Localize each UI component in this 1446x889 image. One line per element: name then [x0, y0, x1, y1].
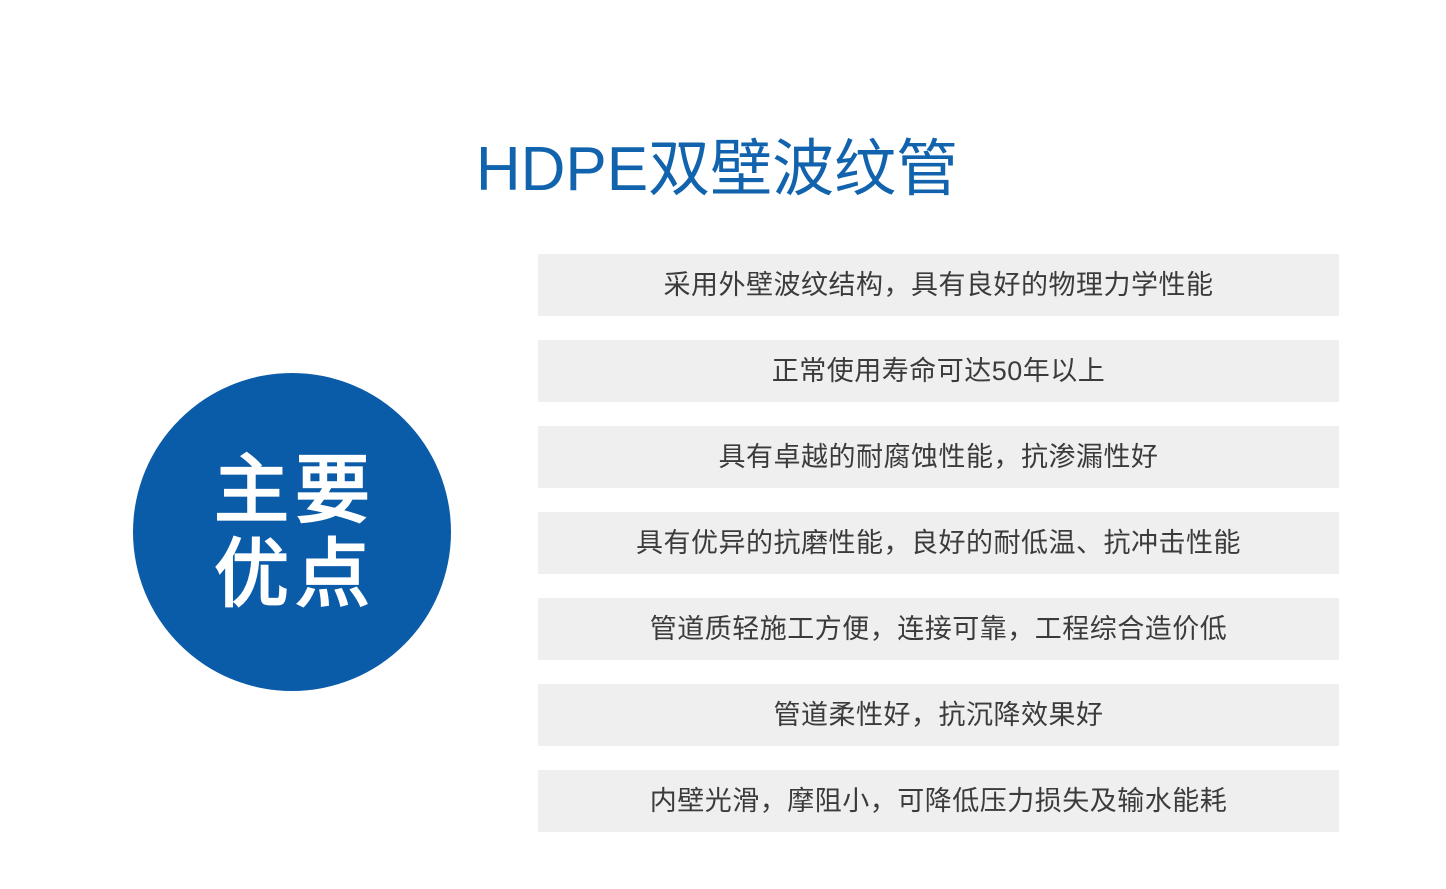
list-item-label: 具有卓越的耐腐蚀性能，抗渗漏性好 [719, 440, 1159, 474]
badge-line-1: 主要 [208, 448, 376, 532]
list-item-label: 具有优异的抗磨性能，良好的耐低温、抗冲击性能 [636, 526, 1241, 560]
list-item-label: 采用外壁波纹结构，具有良好的物理力学性能 [664, 268, 1214, 302]
feature-list: 采用外壁波纹结构，具有良好的物理力学性能 正常使用寿命可达50年以上 具有卓越的… [538, 254, 1339, 832]
list-item-label: 内壁光滑，摩阻小，可降低压力损失及输水能耗 [650, 784, 1228, 818]
list-item-label: 管道柔性好，抗沉降效果好 [774, 698, 1104, 732]
list-item: 管道质轻施工方便，连接可靠，工程综合造价低 [538, 598, 1339, 660]
list-item: 正常使用寿命可达50年以上 [538, 340, 1339, 402]
list-item-label: 正常使用寿命可达50年以上 [772, 354, 1106, 388]
list-item: 具有优异的抗磨性能，良好的耐低温、抗冲击性能 [538, 512, 1339, 574]
page-title: HDPE双壁波纹管 [0, 133, 1446, 207]
list-item: 内壁光滑，摩阻小，可降低压力损失及输水能耗 [538, 770, 1339, 832]
list-item: 具有卓越的耐腐蚀性能，抗渗漏性好 [538, 426, 1339, 488]
main-advantages-badge: 主要 优点 [133, 373, 451, 691]
page-title-text: HDPE双壁波纹管 [476, 133, 958, 207]
list-item: 采用外壁波纹结构，具有良好的物理力学性能 [538, 254, 1339, 316]
slide-canvas: HDPE双壁波纹管 主要 优点 采用外壁波纹结构，具有良好的物理力学性能 正常使… [0, 0, 1446, 889]
badge-line-2: 优点 [208, 532, 376, 616]
list-item-label: 管道质轻施工方便，连接可靠，工程综合造价低 [650, 612, 1228, 646]
list-item: 管道柔性好，抗沉降效果好 [538, 684, 1339, 746]
